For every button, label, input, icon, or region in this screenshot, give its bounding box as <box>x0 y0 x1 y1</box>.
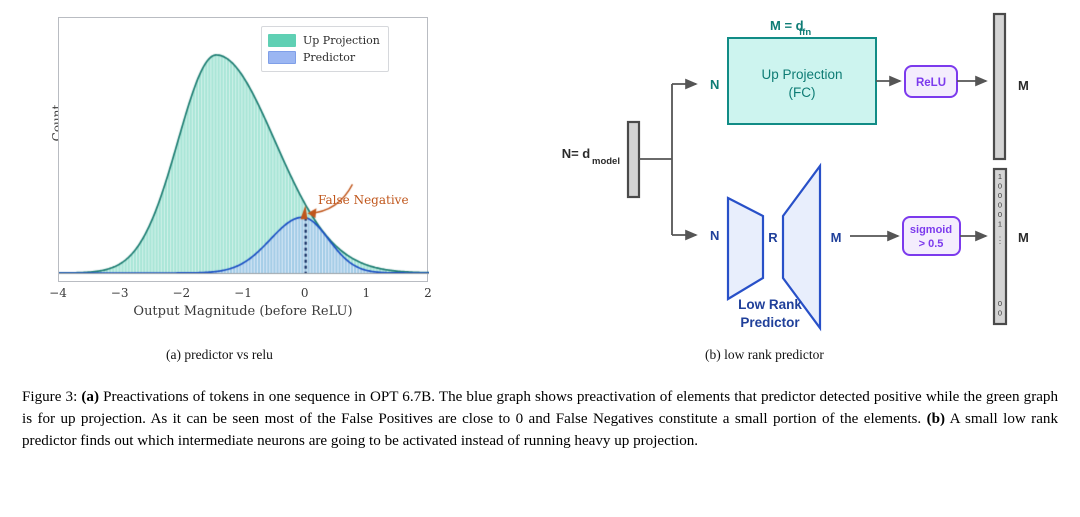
legend-item-predictor: Predictor <box>268 49 380 66</box>
low-rank-predictor-label-line1: Low Rank <box>738 297 802 312</box>
subcaption-a: (a) predictor vs relu <box>166 347 273 363</box>
binary-digit: 0 <box>998 309 1002 318</box>
legend-item-up-projection: Up Projection <box>268 32 380 49</box>
binary-digit: 0 <box>998 182 1002 191</box>
bottom-output-dim-label: M <box>1018 230 1029 245</box>
x-tick-label: 2 <box>413 286 443 300</box>
input-dim-label: N= d <box>562 146 591 161</box>
relu-label: ReLU <box>916 77 946 89</box>
chart-legend: Up Projection Predictor <box>261 26 389 72</box>
up-projection-label-line2: (FC) <box>789 85 816 100</box>
top-output-dim-label: M <box>1018 78 1029 93</box>
x-tick-label: −2 <box>166 286 196 300</box>
binary-digit: 1 <box>998 172 1002 181</box>
figure-caption: Figure 3: (a) Preactivations of tokens i… <box>22 386 1058 453</box>
legend-label-predictor: Predictor <box>303 51 355 64</box>
caption-prefix: Figure 3: <box>22 389 77 405</box>
up-projection-label-line1: Up Projection <box>761 67 842 82</box>
subcaption-b: (b) low rank predictor <box>705 347 824 363</box>
low-rank-predictor-diagram: N= d model N N M = d ffn Up Projection (… <box>520 6 1080 336</box>
binary-digit: 0 <box>998 210 1002 219</box>
x-axis-label: Output Magnitude (before ReLU) <box>58 304 428 319</box>
x-tick-label: −3 <box>105 286 135 300</box>
panel-a-histogram: Count Up Projection Predictor False Nega… <box>18 8 488 338</box>
legend-swatch-up-projection <box>268 34 296 47</box>
branch-top-dim-label: N <box>710 77 719 92</box>
low-rank-predictor-label-line2: Predictor <box>740 315 800 330</box>
binary-digit: 1 <box>998 220 1002 229</box>
x-tick-label: −1 <box>228 286 258 300</box>
caption-b-tag: (b) <box>927 411 945 427</box>
caption-a-tag: (a) <box>81 389 99 405</box>
binary-digit: 0 <box>998 299 1002 308</box>
branch-connector <box>639 84 696 235</box>
caption-a-text: Preactivations of tokens in one sequence… <box>22 389 1058 427</box>
legend-label-up-projection: Up Projection <box>303 34 380 47</box>
figure-3: Count Up Projection Predictor False Nega… <box>0 0 1080 517</box>
low-rank-down-trapezoid[interactable] <box>728 198 763 299</box>
binary-digit: 0 <box>998 191 1002 200</box>
panel-b-diagram: N= d model N N M = d ffn Up Projection (… <box>520 6 1080 336</box>
rank-dim-label: R <box>768 230 778 245</box>
input-vector-bar <box>628 122 639 197</box>
branch-bottom-dim-label: N <box>710 228 719 243</box>
input-dim-subscript: model <box>592 156 620 167</box>
annotation-false-negative: False Negative <box>318 193 409 207</box>
x-tick-label: −4 <box>43 286 73 300</box>
sigmoid-label-line2: > 0.5 <box>919 238 944 250</box>
top-output-vector-bar <box>994 14 1005 159</box>
predictor-out-dim-label: M <box>831 230 842 245</box>
binary-digit: 0 <box>998 201 1002 210</box>
binary-vector-ellipsis: ⋮ <box>996 235 1005 245</box>
legend-swatch-predictor <box>268 51 296 64</box>
ffn-dim-subscript: ffn <box>799 27 811 38</box>
x-tick-label: 1 <box>351 286 381 300</box>
x-tick-label: 0 <box>290 286 320 300</box>
sigmoid-label-line1: sigmoid <box>910 224 952 236</box>
